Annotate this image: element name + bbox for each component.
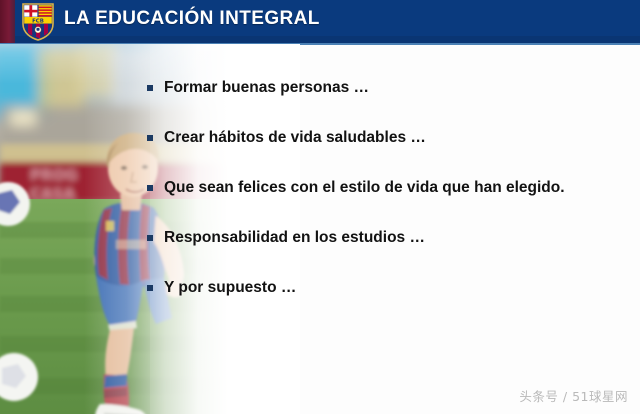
bullet-square-icon — [147, 235, 153, 241]
list-item: Y por supuesto … — [147, 278, 627, 328]
bullet-square-icon — [147, 285, 153, 291]
bullet-square-icon — [147, 85, 153, 91]
list-item: Crear hábitos de vida saludables … — [147, 128, 627, 178]
watermark: 头条号 / 51球星网 — [519, 386, 628, 405]
bullet-text: Formar buenas personas … — [164, 78, 369, 97]
list-item: Formar buenas personas … — [147, 78, 627, 128]
svg-text:FCB: FCB — [32, 18, 44, 24]
bullet-text: Que sean felices con el estilo de vida q… — [164, 178, 565, 197]
page-title: LA EDUCACIÓN INTEGRAL — [64, 8, 320, 30]
fc-barcelona-crest-icon: FCB — [21, 2, 55, 41]
list-item: Responsabilidad en los estudios … — [147, 228, 627, 278]
slide-canvas: FCB LA EDUCACIÓN INTEGRAL — [0, 0, 640, 414]
header-lower-band — [0, 36, 640, 43]
bullet-list: Formar buenas personas … Crear hábitos d… — [147, 78, 627, 328]
slide-header: FCB LA EDUCACIÓN INTEGRAL — [0, 0, 640, 43]
bullet-text: Responsabilidad en los estudios … — [164, 228, 425, 247]
bullet-square-icon — [147, 135, 153, 141]
bullet-text: Crear hábitos de vida saludables … — [164, 128, 426, 147]
bullet-text: Y por supuesto … — [164, 278, 296, 297]
svg-text:PROG: PROG — [30, 166, 78, 184]
header-accent-strip — [0, 0, 15, 43]
bullet-square-icon — [147, 185, 153, 191]
list-item: Que sean felices con el estilo de vida q… — [147, 178, 627, 228]
